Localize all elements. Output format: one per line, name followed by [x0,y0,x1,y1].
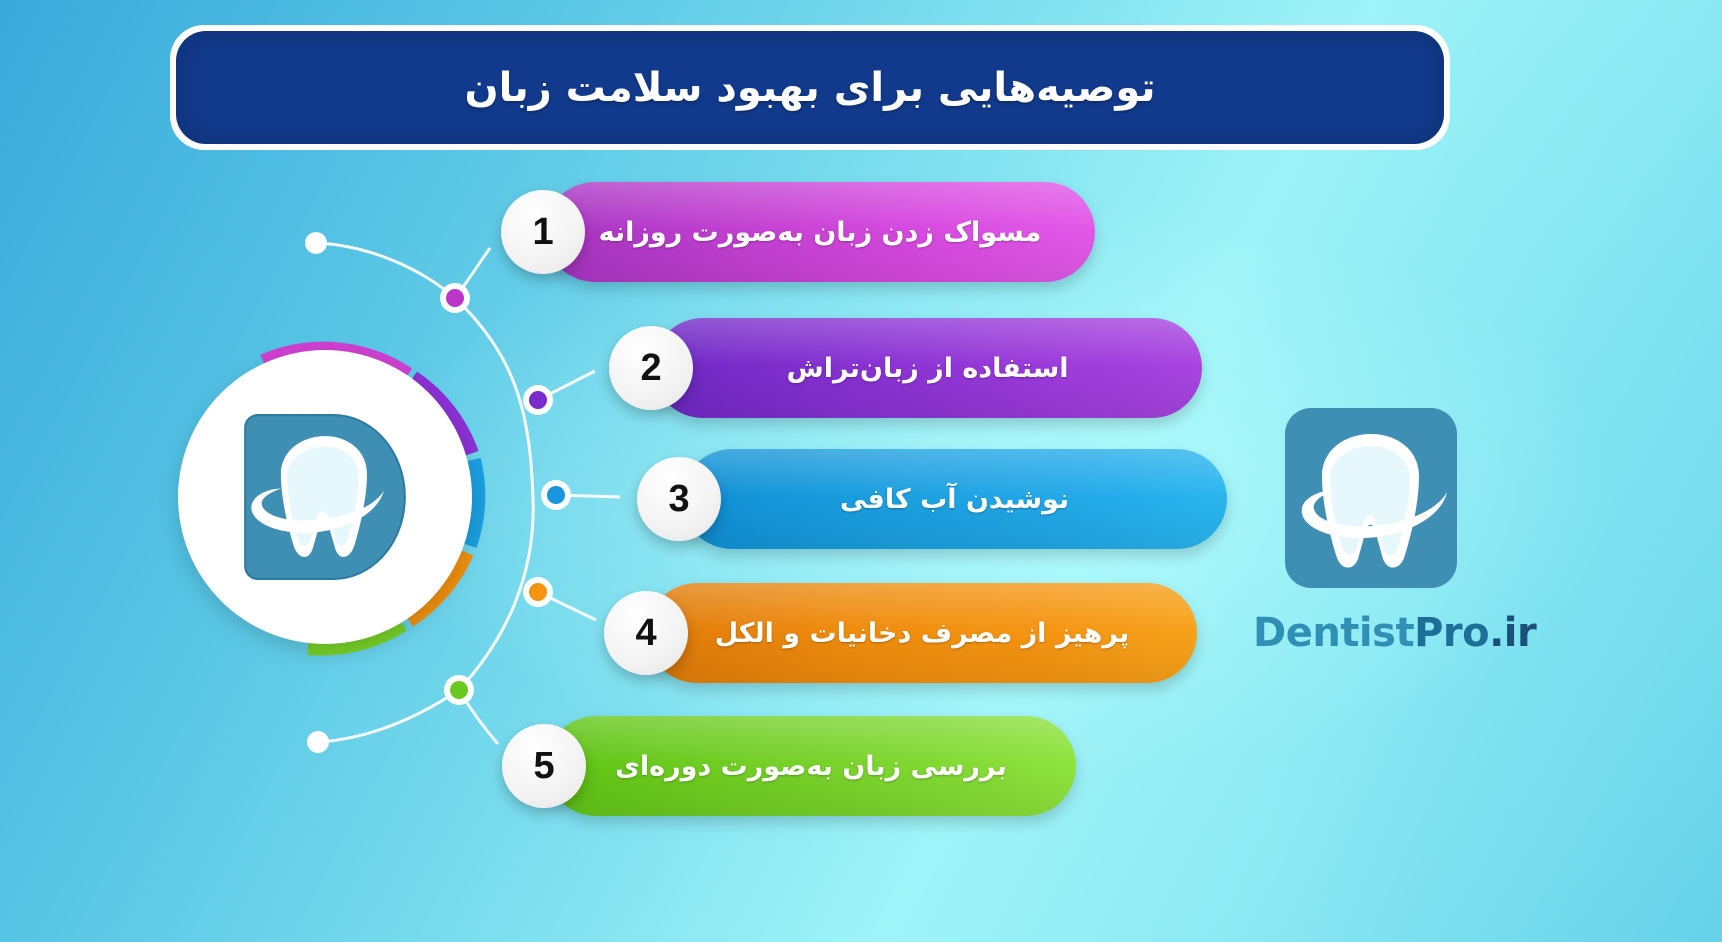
brand-name-part1: Dentist [1253,610,1414,656]
item-number-1[interactable]: 1 [501,190,585,274]
item-number-text-2: 2 [640,347,661,390]
junction-dot-5 [444,675,474,705]
brand-name-part2: Pro [1414,610,1489,656]
item-label-1: مسواک زدن زبان به‌صورت روزانه [545,217,1096,248]
center-logo-badge [160,332,490,662]
brand-watermark: DentistPro.ir [1253,398,1488,656]
list-item[interactable]: بررسی زبان به‌صورت دوره‌ای 5 [546,716,1076,816]
item-pill-2[interactable]: استفاده از زبان‌تراش [653,318,1202,418]
junction-dot-3 [541,480,571,510]
page-title: توصیه‌هایی برای بهبود سلامت زبان [465,65,1156,111]
item-pill-1[interactable]: مسواک زدن زبان به‌صورت روزانه [545,182,1095,282]
item-label-5: بررسی زبان به‌صورت دوره‌ای [561,751,1061,782]
brand-name: DentistPro.ir [1253,610,1488,656]
item-label-3: نوشیدن آب کافی [786,484,1123,515]
list-item[interactable]: پرهیز از مصرف دخانیات و الکل 4 [647,583,1197,683]
dentistpro-d-tooth-icon [220,392,430,602]
item-label-2: استفاده از زبان‌تراش [732,353,1122,384]
item-pill-3[interactable]: نوشیدن آب کافی [682,449,1227,549]
item-number-3[interactable]: 3 [637,457,721,541]
item-number-4[interactable]: 4 [604,591,688,675]
dentistpro-tooth-logo-icon [1271,398,1471,598]
header-banner: توصیه‌هایی برای بهبود سلامت زبان [170,25,1450,150]
item-number-text-1: 1 [532,211,553,254]
item-number-5[interactable]: 5 [502,724,586,808]
item-number-text-3: 3 [668,478,689,521]
list-item[interactable]: استفاده از زبان‌تراش 2 [653,318,1202,418]
center-logo-circle [178,350,472,644]
junction-dot-4 [523,577,553,607]
junction-dot-1 [440,283,470,313]
brand-name-part3: .ir [1489,610,1536,656]
list-item[interactable]: مسواک زدن زبان به‌صورت روزانه 1 [545,182,1095,282]
header-inner: توصیه‌هایی برای بهبود سلامت زبان [176,31,1444,144]
item-number-text-4: 4 [635,612,656,655]
junction-dot-2 [523,385,553,415]
item-pill-4[interactable]: پرهیز از مصرف دخانیات و الکل [647,583,1197,683]
item-number-text-5: 5 [533,745,554,788]
item-label-4: پرهیز از مصرف دخانیات و الکل [661,618,1184,649]
item-pill-5[interactable]: بررسی زبان به‌صورت دوره‌ای [546,716,1076,816]
list-item[interactable]: نوشیدن آب کافی 3 [682,449,1227,549]
item-number-2[interactable]: 2 [609,326,693,410]
